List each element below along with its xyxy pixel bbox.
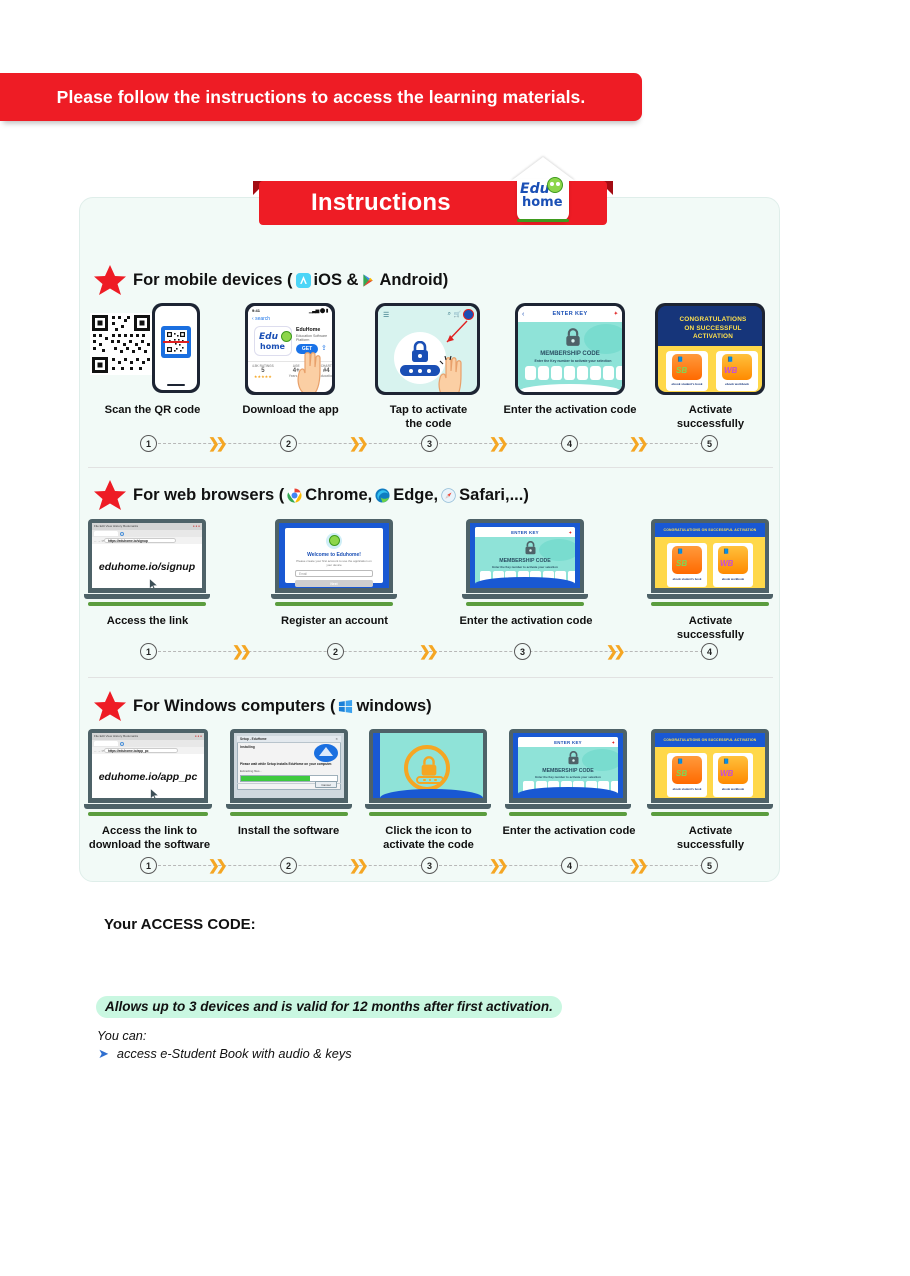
section-title-web: For web browsers ( Chrome, Edge, Safari,… — [133, 486, 529, 505]
laptop-green-bar — [509, 812, 627, 816]
laptop-lid: ENTER KEY ✦ MEMBERSHIP CODE Enter the Ke… — [509, 729, 627, 803]
laptop-base — [271, 594, 396, 599]
step-dot-p5: 5 — [701, 857, 718, 874]
chevron-icon-p4: ❯❯ — [629, 859, 644, 872]
benefit-text: access e-Student Book with audio & keys — [117, 1046, 352, 1061]
phone-qr-scanner — [152, 303, 200, 393]
caption-success-pc-l1: Activate — [648, 824, 773, 838]
laptop-base — [84, 804, 211, 809]
card-student-book: 📘 SB ebook student's book — [666, 351, 708, 391]
card1-badge-web: SB — [676, 559, 687, 568]
laptop-green-bar — [651, 812, 769, 816]
laptop-lid: Setup - EduHome ✕ Installing Please wait… — [230, 729, 348, 803]
card1-label: ebook student's book — [667, 382, 707, 386]
section-title-chrome-text: Chrome, — [305, 486, 372, 505]
house-roof-icon — [511, 157, 575, 181]
play-store-icon — [361, 273, 376, 288]
section-heading-windows: For Windows computers ( windows) — [93, 691, 432, 721]
card-workbook: 📘 WB ebook workbook — [716, 351, 758, 391]
caption-register-account: Register an account — [272, 614, 397, 628]
congrats-line-1: CONGRATULATIONS — [664, 316, 762, 325]
caption-enter-code-pc: Enter the activation code — [493, 824, 645, 838]
logo-home-text: home — [522, 195, 563, 210]
app-store-icon — [296, 273, 311, 288]
chevron-icon-1: ❯❯ — [208, 437, 223, 450]
step-dot-w4: 4 — [701, 643, 718, 660]
red-star-icon — [93, 690, 127, 722]
section-heading-web: For web browsers ( Chrome, Edge, Safari,… — [93, 480, 529, 510]
step-strip-windows: 1 2 3 4 5 ❯❯ ❯❯ ❯❯ ❯❯ — [140, 857, 720, 875]
section-title-windows-text: For Windows computers ( — [133, 697, 335, 716]
laptop-lid: File Edit View History Bookmarks ● ● ● h… — [88, 519, 206, 593]
laptop-green-bar — [88, 812, 208, 816]
ribbon-title: Instructions — [311, 189, 451, 217]
laptop-base — [226, 804, 351, 809]
laptop-base — [647, 804, 772, 809]
step-dot-w1: 1 — [140, 643, 157, 660]
validity-note: Allows up to 3 devices and is valid for … — [96, 996, 562, 1018]
membership-code-title-pc: MEMBERSHIP CODE — [518, 768, 618, 774]
step-strip-mobile: 1 2 3 4 5 ❯❯ ❯❯ ❯❯ ❯❯ — [140, 435, 720, 453]
menu-icon[interactable]: ☰ — [383, 311, 389, 319]
congrats-screen-pc: CONGRATULATIONS ON SUCCESSFUL ACTIVATION… — [655, 733, 765, 798]
store-app-icon: Edu home — [254, 326, 292, 356]
close-icon[interactable]: ✕ — [335, 737, 338, 741]
congrats-pc-l2: ON SUCCESSFUL ACTIVATION — [702, 738, 757, 742]
laptop-green-bar — [651, 602, 769, 606]
caption-tap-activate-l1: Tap to activate — [366, 403, 491, 417]
section-heading-mobile: For mobile devices ( iOS & Android) — [93, 265, 448, 295]
welcome-title: Welcome to Eduhome! — [287, 552, 381, 558]
card-student-book-pc: 📘 SB ebook student's book — [667, 753, 707, 797]
card1-label-pc: ebook student's book — [667, 787, 707, 791]
chrome-icon — [287, 488, 302, 503]
congrats-pc-l1: CONGRATULATIONS — [664, 738, 701, 742]
step-dot-2: 2 — [280, 435, 297, 452]
store-app-sub: Education Software Platform — [296, 334, 332, 342]
step-strip-web: 1 2 3 4 ❯❯ ❯❯ ❯❯ — [140, 643, 720, 661]
membership-code-sub-pc: Enter the Key number to activate your se… — [524, 775, 612, 779]
store-status-time: 9:41 — [252, 308, 260, 313]
step-dot-p1: 1 — [140, 857, 157, 874]
membership-code-sub: Enter the Key number to activate your se… — [524, 359, 622, 363]
step-dot-3: 3 — [421, 435, 438, 452]
step-dot-5: 5 — [701, 435, 718, 452]
caption-success-pc: Activate successfully — [648, 824, 773, 853]
enterkey-screen-web: ENTER KEY ✦ MEMBERSHIP CODE Enter the Ke… — [470, 523, 580, 588]
caption-enter-code-web: Enter the activation code — [450, 614, 602, 628]
section-divider-2 — [88, 677, 773, 678]
laptop-base — [365, 804, 490, 809]
caption-download-software-l2: download the software — [82, 838, 217, 852]
chevron-icon-p3: ❯❯ — [489, 859, 504, 872]
phone-screen-congrats: CONGRATULATIONS ON SUCCESSFUL ACTIVATION… — [658, 306, 762, 392]
step-dot-p3: 3 — [421, 857, 438, 874]
access-code-label: Your ACCESS CODE: — [104, 916, 256, 933]
lock-icon-pc — [418, 756, 440, 777]
caption-download-app: Download the app — [228, 403, 353, 417]
card-workbook-web: 📘 WB ebook workbook — [713, 543, 753, 587]
card1-label-web: ebook student's book — [667, 577, 707, 581]
account-icon[interactable] — [463, 309, 474, 320]
thumb-enter-code-pc: ENTER KEY ✦ MEMBERSHIP CODE Enter the Ke… — [509, 729, 627, 816]
caption-download-software: Access the link to download the software — [82, 824, 217, 853]
caption-scan-qr: Scan the QR code — [90, 403, 215, 417]
thumb-scan-qr — [90, 303, 215, 395]
thumb-download-software: File Edit View History Bookmarks ● ● ● h… — [88, 729, 208, 816]
hand-pointer-icon — [294, 346, 326, 392]
welcome-sub: Please create your first account to use … — [295, 559, 373, 567]
browser-url-text-pc: eduhome.io/app_pc — [92, 771, 204, 783]
congrats-screen-web: CONGRATULATIONS ON SUCCESSFUL ACTIVATION… — [655, 523, 765, 588]
search-icon[interactable]: ⌕ — [448, 311, 451, 318]
step-dot-4: 4 — [561, 435, 578, 452]
cart-icon[interactable]: 🛒 — [454, 311, 461, 318]
thumb-install-software: Setup - EduHome ✕ Installing Please wait… — [230, 729, 348, 816]
section-title-android-text: Android) — [379, 271, 448, 290]
section-title-safari-text: Safari,...) — [459, 486, 529, 505]
membership-code-title: MEMBERSHIP CODE — [518, 351, 622, 357]
enter-key-title-web: ENTER KEY — [511, 530, 539, 535]
arrow-bullet-icon: ➤ — [98, 1047, 109, 1060]
chevron-icon-w2: ❯❯ — [419, 645, 434, 658]
chevron-icon-p2: ❯❯ — [349, 859, 364, 872]
red-star-icon — [93, 264, 127, 296]
section-title-edge-text: Edge, — [393, 486, 438, 505]
step-dot-w2: 2 — [327, 643, 344, 660]
browser-url-text: eduhome.io/signup — [92, 561, 202, 573]
step-dot-p4: 4 — [561, 857, 578, 874]
phone-screen-store: 9:41 ▁▃▅ ⬤ ▮ ‹ search Edu home EduHome E… — [248, 306, 332, 392]
congrats-web-l1: CONGRATULATIONS — [664, 528, 701, 532]
register-screen: Welcome to Eduhome! Please create your f… — [279, 523, 389, 588]
mascot-icon — [547, 177, 563, 193]
laptop-lid — [369, 729, 487, 803]
phone-screen-scan — [155, 306, 197, 390]
caption-success-web-l1: Activate — [648, 614, 773, 628]
laptop-green-bar — [466, 602, 584, 606]
laptop-lid: Welcome to Eduhome! Please create your f… — [275, 519, 393, 593]
step-dot-1: 1 — [140, 435, 157, 452]
card2-badge: WB — [724, 366, 737, 375]
section-title-mobile: For mobile devices ( iOS & Android) — [133, 271, 448, 290]
installer-cancel-button[interactable]: Cancel — [315, 781, 337, 788]
thumb-tap-activate: ☰ ⌕ 🛒 — [375, 303, 480, 395]
installer-heading: Installing — [240, 745, 255, 749]
arrow-pointer-icon — [443, 320, 469, 346]
card2-label-pc: ebook workbook — [713, 787, 753, 791]
step-dot-w3: 3 — [514, 643, 531, 660]
email-field[interactable]: Email — [295, 570, 373, 577]
instruction-sheet: Please follow the instructions to access… — [0, 0, 910, 1276]
chevron-icon-2: ❯❯ — [349, 437, 364, 450]
top-instruction-banner: Please follow the instructions to access… — [0, 73, 642, 121]
section-divider-1 — [88, 467, 773, 468]
card2-badge-pc: WB — [720, 769, 733, 778]
thumb-success-web: CONGRATULATIONS ON SUCCESSFUL ACTIVATION… — [651, 519, 769, 606]
you-can-label: You can: — [97, 1029, 146, 1043]
email-placeholder: Email — [299, 572, 307, 576]
code-input-boxes[interactable] — [525, 366, 622, 380]
caption-success-pc-l2: successfully — [648, 838, 773, 852]
laptop-lid: CONGRATULATIONS ON SUCCESSFUL ACTIVATION… — [651, 519, 769, 593]
red-star-icon — [93, 479, 127, 511]
membership-code-sub-web: Enter the Key number to activate your se… — [481, 565, 569, 569]
lock-icon-web — [523, 541, 538, 555]
installer-line: Please wait while Setup installs EduHome… — [240, 762, 332, 766]
thumb-success-pc: CONGRATULATIONS ON SUCCESSFUL ACTIVATION… — [651, 729, 769, 816]
lock-icon-pc2 — [566, 751, 581, 765]
chevron-icon-w1: ❯❯ — [232, 645, 247, 658]
laptop-base — [462, 594, 587, 599]
store-search-label: search — [255, 316, 270, 322]
laptop-green-bar — [230, 812, 348, 816]
logo-mini: ✦ — [614, 311, 618, 317]
thumb-enter-code-mobile: ‹ ENTER KEY ✦ MEMBERSHIP CODE Enter the … — [515, 303, 625, 395]
laptop-lid: CONGRATULATIONS ON SUCCESSFUL ACTIVATION… — [651, 729, 769, 803]
laptop-green-bar — [275, 602, 393, 606]
store-app-name: EduHome — [296, 327, 320, 333]
thumb-download-app: 9:41 ▁▃▅ ⬤ ▮ ‹ search Edu home EduHome E… — [245, 303, 335, 395]
safari-icon — [441, 488, 456, 503]
lock-icon — [408, 341, 432, 363]
caption-click-icon-l1: Click the icon to — [366, 824, 491, 838]
edge-icon — [375, 488, 390, 503]
laptop-base — [647, 594, 772, 599]
enter-key-title: ENTER KEY — [552, 311, 587, 317]
hand-tap-icon — [434, 352, 468, 392]
thumb-enter-code-web: ENTER KEY ✦ MEMBERSHIP CODE Enter the Ke… — [466, 519, 584, 606]
chevron-icon-w3: ❯❯ — [606, 645, 621, 658]
installer-title: Setup - EduHome — [240, 737, 267, 741]
step-dot-p2: 2 — [280, 857, 297, 874]
lock-badge-pc — [404, 745, 450, 791]
laptop-green-bar — [369, 812, 487, 816]
status-icons: ▁▃▅ ⬤ ▮ — [309, 308, 328, 314]
chevron-icon-4: ❯❯ — [629, 437, 644, 450]
congrats-web-l2: ON SUCCESSFUL ACTIVATION — [702, 528, 757, 532]
section-title-mobile-text: For mobile devices ( — [133, 271, 293, 290]
cursor-icon — [149, 578, 159, 588]
cursor-icon — [150, 788, 160, 798]
browser-signup: File Edit View History Bookmarks ● ● ● h… — [92, 523, 202, 588]
thumb-click-icon — [369, 729, 487, 816]
caption-success-web: Activate successfully — [648, 614, 773, 643]
house-base — [517, 219, 569, 222]
lock-icon-small — [563, 328, 583, 347]
laptop-base — [505, 804, 630, 809]
windows-icon — [338, 699, 353, 714]
enter-key-title-pc: ENTER KEY — [554, 740, 582, 745]
instructions-ribbon: Instructions Edu home — [253, 181, 613, 225]
chevron-icon-p1: ❯❯ — [208, 859, 223, 872]
next-button[interactable]: Next — [295, 580, 373, 587]
qr-code-icon — [90, 313, 152, 375]
section-title-windows: For Windows computers ( windows) — [133, 697, 432, 716]
membership-code-title-web: MEMBERSHIP CODE — [475, 558, 575, 564]
congrats-line-2: ON SUCCESSFUL ACTIVATION — [664, 325, 762, 342]
installer-logo-icon — [317, 745, 335, 761]
store-back-search: ‹ search — [252, 316, 270, 322]
phone-screen-enterkey: ‹ ENTER KEY ✦ MEMBERSHIP CODE Enter the … — [518, 306, 622, 392]
card2-badge-web: WB — [720, 559, 733, 568]
caption-install-software: Install the software — [226, 824, 351, 838]
laptop-lid: ENTER KEY ✦ MEMBERSHIP CODE Enter the Ke… — [466, 519, 584, 593]
back-icon[interactable]: ‹ — [522, 311, 524, 318]
card1-badge-pc: SB — [676, 769, 687, 778]
top-banner-text: Please follow the instructions to access… — [57, 87, 586, 108]
chevron-icon-3: ❯❯ — [489, 437, 504, 450]
thumb-access-link: File Edit View History Bookmarks ● ● ● h… — [88, 519, 206, 606]
installer-sub: Extracting files... — [240, 769, 262, 773]
card2-label-web: ebook workbook — [713, 577, 753, 581]
card-student-book-web: 📘 SB ebook student's book — [667, 543, 707, 587]
section-title-web-text: For web browsers ( — [133, 486, 284, 505]
caption-success-mobile-l2: successfully — [648, 417, 773, 431]
card1-badge: SB — [676, 366, 687, 375]
phone-screen-tap: ☰ ⌕ 🛒 — [378, 306, 477, 392]
caption-success-mobile: Activate successfully — [648, 403, 773, 432]
caption-click-icon-l2: activate the code — [366, 838, 491, 852]
caption-download-software-l1: Access the link to — [82, 824, 217, 838]
caption-access-link: Access the link — [85, 614, 210, 628]
card-workbook-pc: 📘 WB ebook workbook — [713, 753, 753, 797]
browser-app-pc: File Edit View History Bookmarks ● ● ● h… — [92, 733, 204, 798]
eduhome-house-logo: Edu home — [511, 157, 575, 223]
laptop-lid: File Edit View History Bookmarks ● ● ● h… — [88, 729, 208, 803]
caption-success-web-l2: successfully — [648, 628, 773, 642]
benefit-list-item: ➤ access e-Student Book with audio & key… — [98, 1046, 352, 1061]
caption-enter-code-mobile: Enter the activation code — [495, 403, 645, 417]
caption-tap-activate-l2: the code — [366, 417, 491, 431]
caption-tap-activate: Tap to activate the code — [366, 403, 491, 432]
section-title-windows-label: windows) — [356, 697, 431, 716]
caption-click-icon: Click the icon to activate the code — [366, 824, 491, 853]
thumb-register-account: Welcome to Eduhome! Please create your f… — [275, 519, 393, 606]
caption-success-mobile-l1: Activate — [648, 403, 773, 417]
thumb-activate-success-mobile: CONGRATULATIONS ON SUCCESSFUL ACTIVATION… — [655, 303, 765, 395]
section-title-ios-text: iOS & — [314, 271, 359, 290]
laptop-green-bar — [88, 602, 206, 606]
installer-screen: Setup - EduHome ✕ Installing Please wait… — [234, 733, 344, 798]
click-icon-screen — [373, 733, 483, 798]
enterkey-screen-pc: ENTER KEY ✦ MEMBERSHIP CODE Enter the Ke… — [513, 733, 623, 798]
laptop-base — [84, 594, 209, 599]
card2-label: ebook workbook — [717, 382, 757, 386]
